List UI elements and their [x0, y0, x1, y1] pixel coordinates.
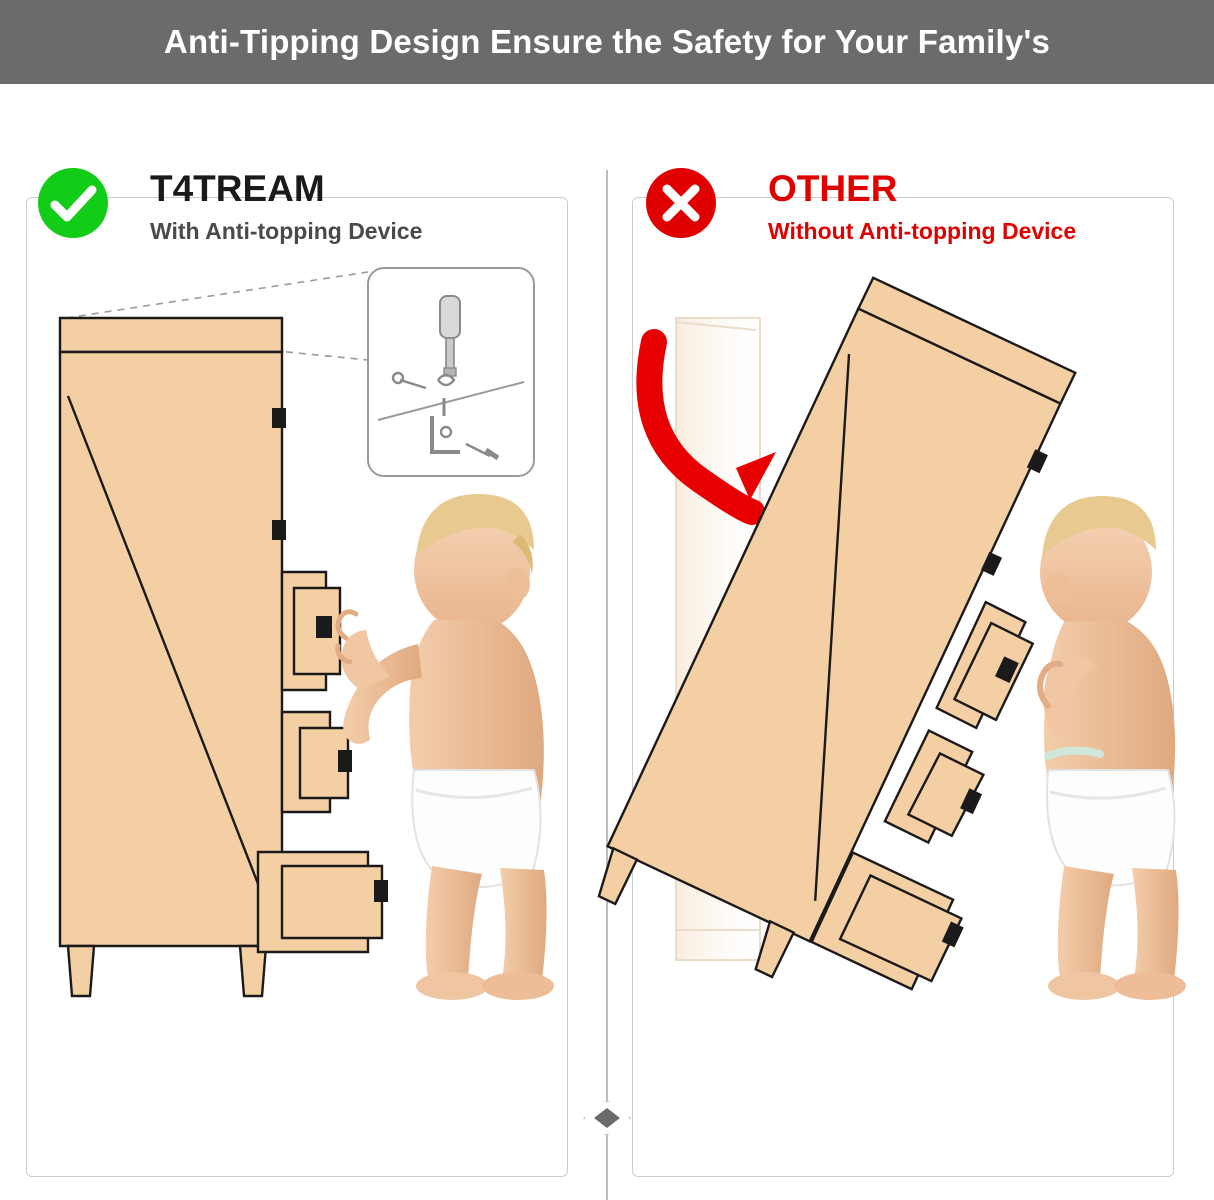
- page-title: Anti-Tipping Design Ensure the Safety fo…: [164, 23, 1050, 61]
- panel-divider-diamond: [583, 1100, 631, 1136]
- check-circle-icon: [38, 168, 108, 238]
- cross-circle-icon: [646, 168, 716, 238]
- left-heading-block: T4TREAM With Anti-topping Device: [150, 170, 422, 243]
- right-brand-label: OTHER: [768, 170, 1076, 207]
- panel-with-anti-tip: [26, 197, 568, 1177]
- panel-divider-line: [606, 170, 608, 1200]
- right-subtitle-label: Without Anti-topping Device: [768, 220, 1076, 243]
- panel-without-anti-tip: [632, 197, 1174, 1177]
- left-brand-label: T4TREAM: [150, 170, 422, 207]
- right-heading-block: OTHER Without Anti-topping Device: [768, 170, 1076, 243]
- header-banner: Anti-Tipping Design Ensure the Safety fo…: [0, 0, 1214, 84]
- left-subtitle-label: With Anti-topping Device: [150, 220, 422, 243]
